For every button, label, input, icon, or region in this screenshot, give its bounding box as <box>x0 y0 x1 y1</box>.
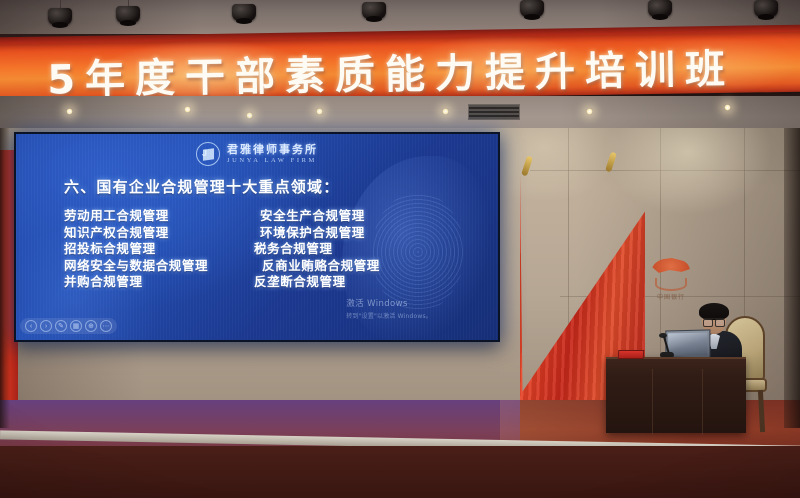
slide-background: J 君雅律师事务所 JUNYA LAW FIRM 六、国有企业合规管理十大重点领… <box>16 134 498 340</box>
stage-spotlight-fixture <box>232 4 256 21</box>
ceiling-downlight <box>586 108 593 115</box>
slide-right-column: 安全生产合规管理 环境保护合规管理 税务合规管理 反商业贿赂合规管理 反垄断合规… <box>254 208 380 291</box>
event-banner: 5年度干部素质能力提升培训班 <box>0 30 800 105</box>
list-item: 并购合规管理 <box>64 274 254 291</box>
stage-spotlight-fixture <box>754 0 778 17</box>
list-item: 环境保护合规管理 <box>254 225 380 242</box>
stage-spotlight-fixture <box>362 2 386 19</box>
speaker-glasses <box>703 318 725 324</box>
logo-letter: J <box>202 148 207 158</box>
ceiling-downlight <box>246 112 253 119</box>
pen-icon[interactable]: ✎ <box>55 320 67 332</box>
projection-screen: J 君雅律师事务所 JUNYA LAW FIRM 六、国有企业合规管理十大重点领… <box>14 132 500 342</box>
prev-slide-icon[interactable]: ‹ <box>25 320 37 332</box>
slide-title: 六、国有企业合规管理十大重点领域： <box>64 176 339 197</box>
list-item: 知识产权合规管理 <box>64 225 254 242</box>
list-item: 税务合规管理 <box>254 241 380 258</box>
list-item: 安全生产合规管理 <box>254 208 380 225</box>
list-item: 网络安全与数据合规管理 <box>64 258 254 275</box>
podium-desk <box>606 357 746 433</box>
podium-panel-seam <box>652 369 653 435</box>
laptop-screen-glare <box>668 333 707 356</box>
firm-name-en: JUNYA LAW FIRM <box>227 158 318 165</box>
list-item: 反商业贿赂合规管理 <box>254 258 380 275</box>
curtain-rod <box>605 152 617 173</box>
stage-spotlight-fixture <box>648 0 672 17</box>
slide-body-columns: 劳动用工合规管理 知识产权合规管理 招投标合规管理 网络安全与数据合规管理 并购… <box>64 208 484 291</box>
presenter-toolbar[interactable]: ‹ › ✎ ▦ ⊕ ⋯ <box>20 318 117 334</box>
watermark-line-2: 转到"设置"以激活 Windows。 <box>346 311 432 320</box>
stage-front-face <box>0 446 800 498</box>
more-options-icon[interactable]: ⋯ <box>100 320 112 332</box>
list-item: 劳动用工合规管理 <box>64 208 254 225</box>
curtain-rod <box>521 156 533 177</box>
next-slide-icon[interactable]: › <box>40 320 52 332</box>
list-item: 招投标合规管理 <box>64 241 254 258</box>
slide-left-column: 劳动用工合规管理 知识产权合规管理 招投标合规管理 网络安全与数据合规管理 并购… <box>64 208 254 291</box>
right-shadow-overlay <box>784 128 800 428</box>
name-card <box>618 350 645 359</box>
ceiling-downlight <box>442 108 449 115</box>
firm-logo-badge-icon: J <box>196 142 220 166</box>
slide-grid-icon[interactable]: ▦ <box>70 320 82 332</box>
windows-activation-watermark: 激活 Windows 转到"设置"以激活 Windows。 <box>346 297 432 320</box>
firm-logo: J 君雅律师事务所 JUNYA LAW FIRM <box>196 142 318 166</box>
stage-spotlight-fixture <box>116 6 140 23</box>
emblem-arc-icon <box>655 278 687 291</box>
list-item: 反垄断合规管理 <box>254 274 380 291</box>
air-vent <box>468 104 520 120</box>
watermark-line-1: 激活 Windows <box>346 297 432 309</box>
stage-spotlight-fixture <box>520 0 544 17</box>
conference-hall-photo: 5年度干部素质能力提升培训班 中国银行 <box>0 0 800 498</box>
chair-leg <box>758 390 765 432</box>
ceiling-downlight <box>184 106 191 113</box>
firm-logo-text: 君雅律师事务所 JUNYA LAW FIRM <box>227 144 318 165</box>
ceiling-downlight <box>66 108 73 115</box>
firm-name-cn: 君雅律师事务所 <box>227 144 318 155</box>
ceiling-downlight <box>316 108 323 115</box>
stage-spotlight-fixture <box>48 8 72 25</box>
zoom-icon[interactable]: ⊕ <box>85 320 97 332</box>
ceiling-downlight <box>724 104 731 111</box>
emblem-caption: 中国银行 <box>648 294 694 302</box>
left-shadow-overlay <box>0 128 10 428</box>
podium-panel-seam <box>702 369 703 435</box>
